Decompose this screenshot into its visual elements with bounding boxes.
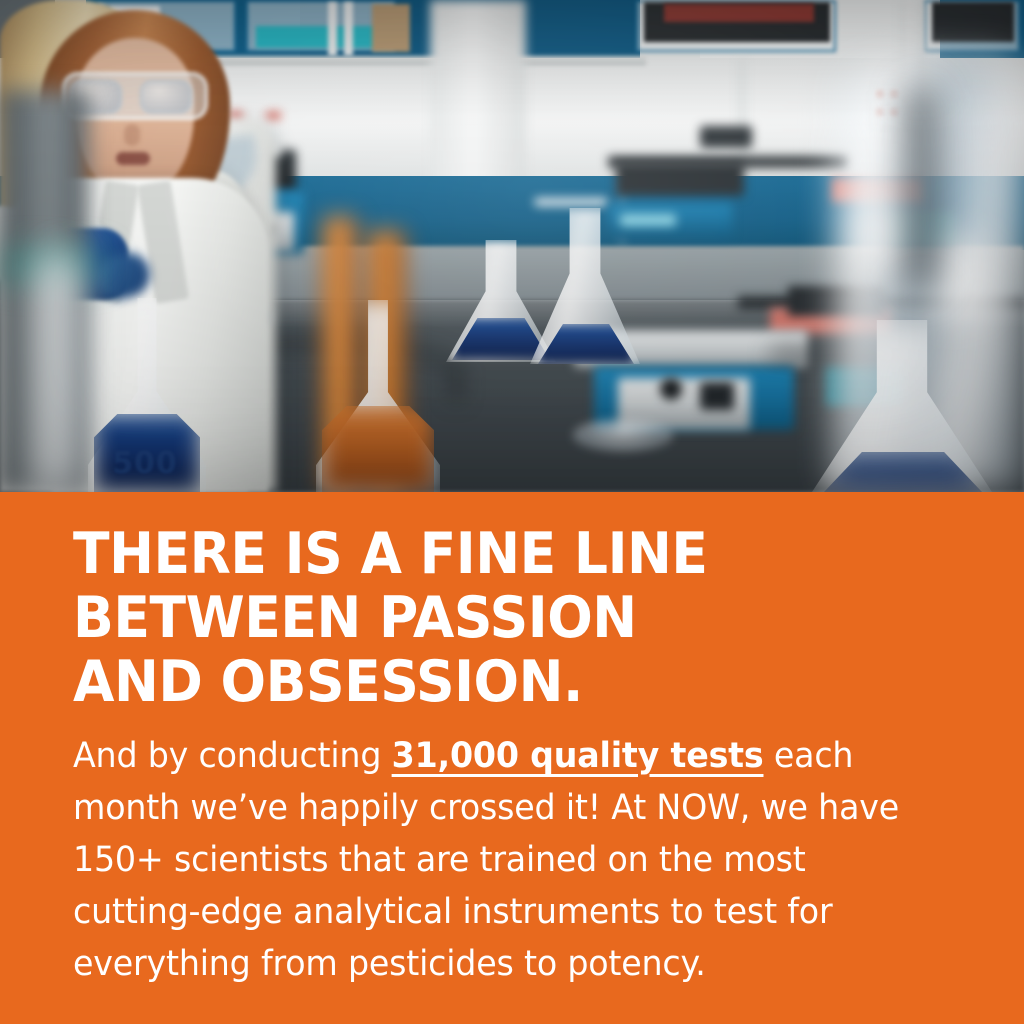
- cabinet-tube-pair: [328, 2, 337, 56]
- lab-photo: 500: [0, 0, 1024, 492]
- foreground-glass-bokeh-b: [938, 236, 984, 320]
- cabinet-box-tan: [372, 4, 410, 52]
- foreground-glass-bokeh-a: [860, 200, 900, 270]
- cabinet-tube-pair-2: [344, 2, 353, 56]
- balance-button-b: [700, 382, 734, 410]
- quality-tests-highlight: 31,000 quality tests: [392, 736, 764, 776]
- analyzer-logo-right: [620, 214, 676, 226]
- balance-button-a: [660, 378, 682, 400]
- orange-text-panel: THERE IS A FINE LINE BETWEEN PASSION AND…: [0, 492, 1024, 1024]
- cabinet-handle: [534, 198, 608, 206]
- scientist-center-nose: [124, 124, 140, 146]
- volumetric-liquid-amber: [322, 406, 434, 492]
- wall-column-center: [430, 0, 526, 200]
- instrument-stand-clamp: [700, 126, 752, 148]
- foreground-glass-dark-gap: [908, 88, 934, 288]
- cabinet-contents-teal: [256, 26, 386, 48]
- reagent-bottle-row: [616, 162, 744, 196]
- scientist-center-mouth: [116, 152, 150, 165]
- poster-root: 500 THERE IS A FINE LINE BETWEEN PASSION…: [0, 0, 1024, 1024]
- test-tube-cap-4: [266, 112, 281, 119]
- watch-glass: [574, 420, 672, 450]
- body-copy-lead: And by conducting: [73, 736, 392, 776]
- body-copy: And by conducting 31,000 quality tests e…: [73, 730, 909, 990]
- test-tube-cap-3: [228, 112, 243, 119]
- page-title: THERE IS A FINE LINE BETWEEN PASSION AND…: [73, 522, 919, 714]
- flask-volume-label: 500: [103, 447, 187, 481]
- cabinet-contents-dark-2: [932, 2, 1014, 42]
- foreground-cylinder-left: [30, 252, 84, 492]
- cabinet-contents-red: [664, 4, 814, 22]
